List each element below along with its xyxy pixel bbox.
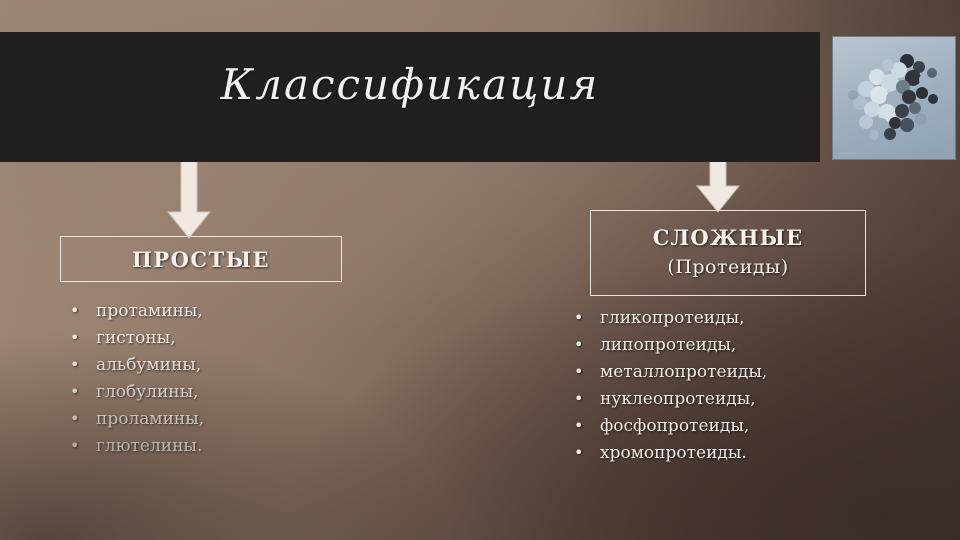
list-item-label: фосфопротеиды, [600, 416, 749, 436]
list-item-label: металлопротеиды, [600, 362, 767, 382]
protein-molecule-image [832, 36, 956, 160]
list-item: липопротеиды, [566, 332, 767, 359]
category-heading-simple: ПРОСТЫЕ [60, 236, 342, 282]
list-item-label: хромопротеиды. [600, 443, 747, 463]
list-item-label: протамины, [96, 301, 203, 321]
list-item: глобулины, [62, 379, 204, 406]
arrow-down-icon-complex [693, 158, 743, 214]
category-heading-complex-label: СЛОЖНЫЕ [653, 225, 804, 250]
title-bar: Классификация [0, 32, 820, 162]
slide-canvas: Классификация [0, 0, 960, 540]
arrow-down-icon-simple [164, 158, 214, 240]
list-item-label: нуклеопротеиды, [600, 389, 756, 409]
list-item: альбумины, [62, 352, 204, 379]
list-item: проламины, [62, 406, 204, 433]
list-item: гистоны, [62, 325, 204, 352]
list-item: глютелины. [62, 433, 204, 460]
category-heading-complex: СЛОЖНЫЕ (Протеиды) [590, 210, 866, 296]
category-subheading-complex-label: (Протеиды) [591, 256, 865, 278]
list-item: фосфопротеиды, [566, 413, 767, 440]
page-title: Классификация [0, 60, 820, 109]
list-complex-proteins: гликопротеиды, липопротеиды, металлопрот… [566, 305, 767, 467]
list-item: протамины, [62, 298, 204, 325]
list-item-label: гистоны, [96, 328, 176, 348]
list-item-label: проламины, [96, 409, 204, 429]
list-item-label: глютелины. [96, 436, 202, 456]
list-item: нуклеопротеиды, [566, 386, 767, 413]
list-simple-proteins: протамины, гистоны, альбумины, глобулины… [62, 298, 204, 460]
molecule-graphic [833, 37, 955, 159]
list-item: металлопротеиды, [566, 359, 767, 386]
list-item-label: альбумины, [96, 355, 201, 375]
list-item-label: глобулины, [96, 382, 199, 402]
list-item: хромопротеиды. [566, 440, 767, 467]
list-item-label: гликопротеиды, [600, 308, 745, 328]
list-item: гликопротеиды, [566, 305, 767, 332]
list-item-label: липопротеиды, [600, 335, 736, 355]
category-heading-simple-label: ПРОСТЫЕ [132, 247, 270, 272]
